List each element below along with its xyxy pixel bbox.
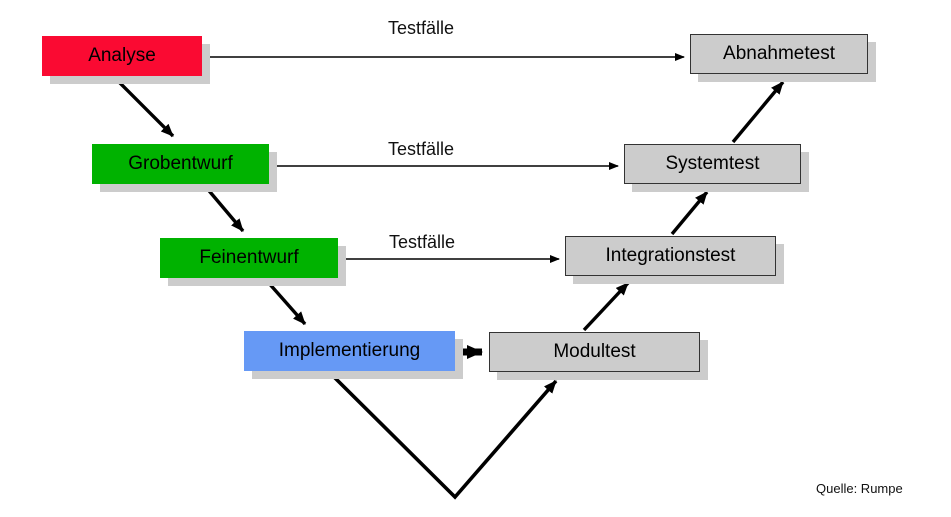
edge-integrationstest-to-systemtest — [672, 192, 707, 234]
edge-label-testfaelle-2: Testfälle — [388, 139, 454, 160]
node-feinentwurf-label: Feinentwurf — [199, 247, 298, 269]
node-implementierung[interactable]: Implementierung — [244, 331, 455, 371]
edge-systemtest-to-abnahmetest — [733, 82, 783, 142]
edge-label-testfaelle-1: Testfälle — [388, 18, 454, 39]
edge-analyse-to-grobentwurf — [115, 78, 173, 136]
node-abnahmetest-label: Abnahmetest — [723, 43, 835, 65]
node-analyse[interactable]: Analyse — [42, 36, 202, 76]
edge-v-bottom — [330, 373, 556, 497]
node-feinentwurf[interactable]: Feinentwurf — [160, 238, 338, 278]
node-abnahmetest[interactable]: Abnahmetest — [690, 34, 868, 74]
node-modultest[interactable]: Modultest — [489, 332, 700, 372]
node-systemtest[interactable]: Systemtest — [624, 144, 801, 184]
node-analyse-label: Analyse — [88, 45, 156, 67]
source-note: Quelle: Rumpe — [816, 481, 903, 496]
node-modultest-label: Modultest — [553, 341, 635, 363]
node-systemtest-label: Systemtest — [666, 153, 760, 175]
node-grobentwurf-label: Grobentwurf — [128, 153, 233, 175]
edge-label-testfaelle-3: Testfälle — [389, 232, 455, 253]
v-model-diagram: Analyse Grobentwurf Feinentwurf Implemen… — [0, 0, 951, 517]
node-integrationstest-label: Integrationstest — [606, 245, 736, 267]
node-integrationstest[interactable]: Integrationstest — [565, 236, 776, 276]
edge-modultest-to-integrationstest — [584, 283, 628, 330]
edge-grobentwurf-to-feinentwurf — [205, 186, 243, 231]
node-implementierung-label: Implementierung — [279, 340, 421, 362]
node-grobentwurf[interactable]: Grobentwurf — [92, 144, 269, 184]
edge-feinentwurf-to-implementierung — [267, 281, 305, 324]
